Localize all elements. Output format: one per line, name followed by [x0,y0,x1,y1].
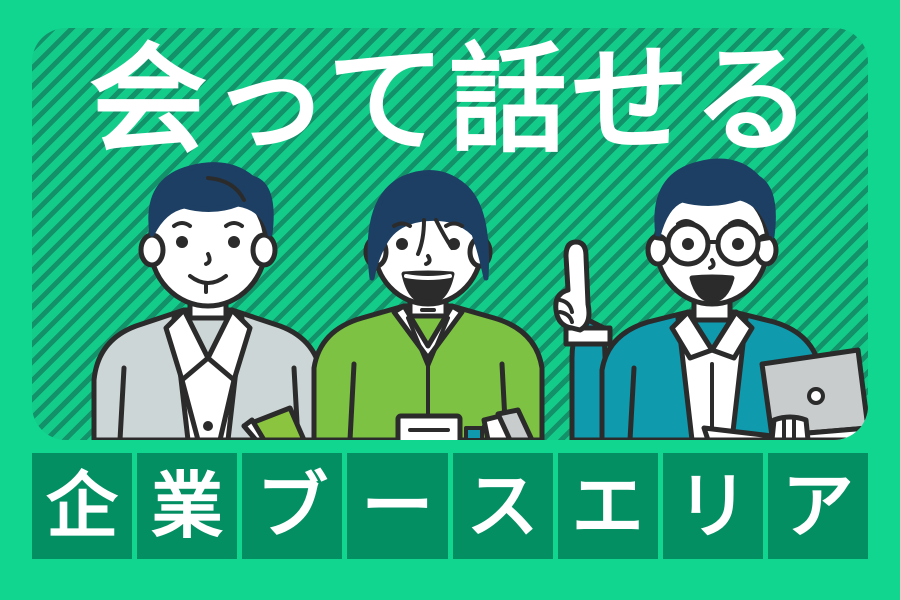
person-center-figure [314,173,542,440]
kanji-box: ス [453,453,553,559]
poster-canvas: 会って話せる [0,0,900,600]
kanji-box: エ [558,453,658,559]
person-left-figure [94,165,322,440]
person-right-figure [556,161,868,440]
kanji-box: 業 [137,453,237,559]
kanji-box: ー [347,453,447,559]
illustration-people-group [32,28,868,440]
booth-area-label-row: 企 業 ブ ー ス エ リ ア [32,453,868,559]
kanji-box: ア [768,453,868,559]
kanji-box: 企 [32,453,132,559]
kanji-box: リ [663,453,763,559]
kanji-box: ブ [242,453,342,559]
